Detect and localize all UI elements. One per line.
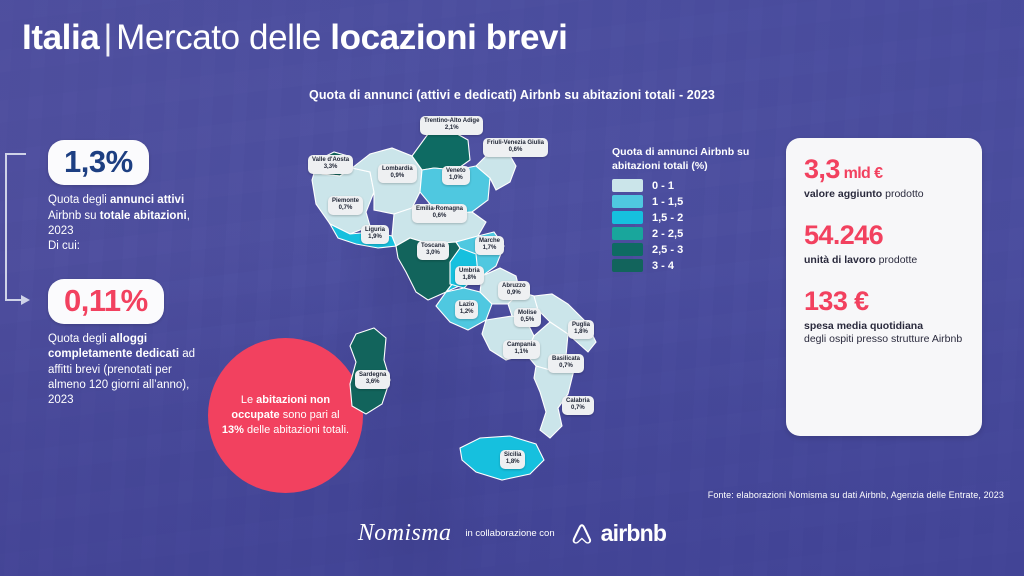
title-bold-1: Italia <box>22 18 99 57</box>
legend-label: 0 - 1 <box>652 180 674 192</box>
title-separator: | <box>99 18 116 57</box>
map-label-name: Molise <box>518 310 537 316</box>
stat-pill-dedicated-share: 0,11% <box>48 279 164 324</box>
legend-swatch <box>612 211 643 224</box>
map-label-name: Marche <box>479 238 500 244</box>
stat1-bold-1: annunci attivi <box>110 194 184 206</box>
airbnb-logo: airbnb <box>569 520 666 547</box>
chart-subtitle: Quota di annunci (attivi e dedicati) Air… <box>0 88 1024 102</box>
map-label-toscana: Toscana3,0% <box>417 241 449 260</box>
header: Italia|Mercato delle locazioni brevi <box>0 0 1024 78</box>
circle-bold-2: 13% <box>222 424 244 436</box>
legend-items: 0 - 11 - 1,51,5 - 22 - 2,52,5 - 33 - 4 <box>612 179 782 272</box>
map-label-value: 0,6% <box>416 213 463 220</box>
airbnb-belo-icon <box>569 521 595 547</box>
kpi-block: 54.246unità di lavoro prodotte <box>804 222 966 267</box>
map-label-name: Emilia-Romagna <box>416 206 463 212</box>
bracket-connector <box>0 148 42 313</box>
legend-item: 3 - 4 <box>612 259 782 272</box>
logo-row: Nomisma in collaborazione con airbnb <box>358 520 666 547</box>
map-label-value: 3,6% <box>359 379 386 386</box>
stat-description-1: Quota degli annunci attivi Airbnb su tot… <box>48 193 208 254</box>
map-label-veneto: Veneto1,0% <box>442 166 470 185</box>
map-label-sardegna: Sardegna3,6% <box>355 370 390 389</box>
map-label-name: Lazio <box>459 302 474 308</box>
map-label-name: Lombardia <box>382 166 413 172</box>
map-label-lazio: Lazio1,2% <box>455 300 478 319</box>
kpi-description: spesa media quotidianadegli ospiti press… <box>804 320 966 346</box>
italy-choropleth-map: Valle d'Aosta3,3%Piemonte0,7%Liguria1,9%… <box>300 108 630 498</box>
legend-label: 2,5 - 3 <box>652 244 683 256</box>
kpi-description: valore aggiunto prodotto <box>804 188 966 201</box>
map-label-name: Abruzzo <box>502 283 526 289</box>
legend-label: 2 - 2,5 <box>652 228 683 240</box>
stat-value-1: 1,3% <box>64 144 133 179</box>
map-label-name: Piemonte <box>332 198 359 204</box>
map-label-value: 1,0% <box>446 175 466 182</box>
map-label-name: Veneto <box>446 168 466 174</box>
nomisma-logo: Nomisma <box>358 520 451 547</box>
circle-text-1: Le <box>241 394 256 406</box>
map-label-basilicata: Basilicata0,7% <box>548 354 584 373</box>
map-label-puglia: Puglia1,8% <box>568 320 594 339</box>
map-label-name: Umbria <box>459 268 480 274</box>
map-region-trentino-alto-adige[interactable] <box>412 130 470 170</box>
stat1-bold-2: totale abitazioni <box>100 210 187 222</box>
kpi-number: 133 € <box>804 288 966 315</box>
legend-label: 1,5 - 2 <box>652 212 683 224</box>
legend-label: 3 - 4 <box>652 260 674 272</box>
map-label-name: Sicilia <box>504 452 521 458</box>
collaboration-label: in collaborazione con <box>465 528 554 539</box>
map-label-name: Puglia <box>572 322 590 328</box>
map-label-marche: Marche1,7% <box>475 236 504 255</box>
map-label-emilia-romagna: Emilia-Romagna0,6% <box>412 204 467 223</box>
map-label-value: 1,7% <box>479 245 500 252</box>
legend-title: Quota di annunci Airbnb su abitazioni to… <box>612 146 782 173</box>
stat-description-2: Quota degli alloggi completamente dedica… <box>48 332 208 408</box>
kpi-description-bold: valore aggiunto <box>804 188 882 200</box>
legend-swatch <box>612 179 643 192</box>
kpi-number: 3,3 mld € <box>804 156 966 183</box>
map-label-molise: Molise0,5% <box>514 308 541 327</box>
source-note: Fonte: elaborazioni Nomisma su dati Airb… <box>708 490 1004 500</box>
legend-swatch <box>612 227 643 240</box>
legend-item: 2,5 - 3 <box>612 243 782 256</box>
map-label-value: 3,0% <box>421 250 445 257</box>
legend-item: 0 - 1 <box>612 179 782 192</box>
legend-item: 1,5 - 2 <box>612 211 782 224</box>
legend-swatch <box>612 243 643 256</box>
stat-value-2: 0,11% <box>64 283 148 318</box>
economic-impact-card: 3,3 mld €valore aggiunto prodotto54.246u… <box>786 138 982 436</box>
map-label-value: 0,7% <box>566 405 590 412</box>
stat1-text-2: Airbnb su <box>48 210 100 222</box>
map-label-umbria: Umbria1,8% <box>455 266 484 285</box>
map-label-value: 1,2% <box>459 309 474 316</box>
map-label-value: 0,9% <box>382 173 413 180</box>
map-label-name: Valle d'Aosta <box>312 157 349 163</box>
stat1-text-1: Quota degli <box>48 194 110 206</box>
map-label-piemonte: Piemonte0,7% <box>328 196 363 215</box>
legend-swatch <box>612 259 643 272</box>
map-label-sicilia: Sicilia1,8% <box>500 450 525 469</box>
stat1-text-4: Di cui: <box>48 240 80 252</box>
map-label-value: 0,7% <box>552 363 580 370</box>
map-label-friuli-venezia-giulia: Friuli-Venezia Giulia0,6% <box>483 138 548 157</box>
map-label-value: 1,8% <box>504 459 521 466</box>
map-label-abruzzo: Abruzzo0,9% <box>498 281 530 300</box>
legend-swatch <box>612 195 643 208</box>
stat-pill-active-share: 1,3% <box>48 140 149 185</box>
legend-item: 1 - 1,5 <box>612 195 782 208</box>
legend-item: 2 - 2,5 <box>612 227 782 240</box>
map-label-lombardia: Lombardia0,9% <box>378 164 417 183</box>
footer: Nomisma in collaborazione con airbnb <box>0 520 1024 566</box>
title-bold-2: locazioni brevi <box>330 18 567 57</box>
map-label-value: 0,6% <box>487 147 544 154</box>
map-label-name: Liguria <box>365 227 385 233</box>
map-label-name: Toscana <box>421 243 445 249</box>
stat2-text-1: Quota degli <box>48 333 110 345</box>
map-label-value: 1,8% <box>459 275 480 282</box>
map-label-name: Sardegna <box>359 372 386 378</box>
map-label-value: 3,3% <box>312 164 349 171</box>
map-label-name: Basilicata <box>552 356 580 362</box>
map-label-name: Campania <box>507 342 536 348</box>
kpi-description: unità di lavoro prodotte <box>804 254 966 267</box>
map-label-value: 1,8% <box>572 329 590 336</box>
map-label-name: Calabria <box>566 398 590 404</box>
map-label-value: 0,9% <box>502 290 526 297</box>
map-label-trentino-alto-adige: Trentino-Alto Adige2,1% <box>420 116 483 135</box>
map-label-value: 0,5% <box>518 317 537 324</box>
kpi-block: 3,3 mld €valore aggiunto prodotto <box>804 156 966 201</box>
kpi-number: 54.246 <box>804 222 966 249</box>
map-label-valle-d-aosta: Valle d'Aosta3,3% <box>308 155 353 174</box>
legend-label: 1 - 1,5 <box>652 196 683 208</box>
map-label-value: 2,1% <box>424 125 479 132</box>
map-label-calabria: Calabria0,7% <box>562 396 594 415</box>
kpi-description-bold: spesa media quotidiana <box>804 320 923 332</box>
map-label-name: Friuli-Venezia Giulia <box>487 140 544 146</box>
kpi-block: 133 €spesa media quotidianadegli ospiti … <box>804 288 966 346</box>
map-label-liguria: Liguria1,9% <box>361 225 389 244</box>
kpi-list: 3,3 mld €valore aggiunto prodotto54.246u… <box>804 156 966 347</box>
title-light: Mercato delle <box>116 18 321 57</box>
map-label-value: 0,7% <box>332 205 359 212</box>
airbnb-wordmark: airbnb <box>601 520 666 547</box>
kpi-unit: mld € <box>840 165 883 182</box>
map-label-value: 1,1% <box>507 349 536 356</box>
map-label-campania: Campania1,1% <box>503 340 540 359</box>
map-legend: Quota di annunci Airbnb su abitazioni to… <box>612 146 782 275</box>
page-title: Italia|Mercato delle locazioni brevi <box>22 18 567 58</box>
map-label-name: Trentino-Alto Adige <box>424 118 479 124</box>
map-label-value: 1,9% <box>365 234 385 241</box>
kpi-description-bold: unità di lavoro <box>804 254 876 266</box>
